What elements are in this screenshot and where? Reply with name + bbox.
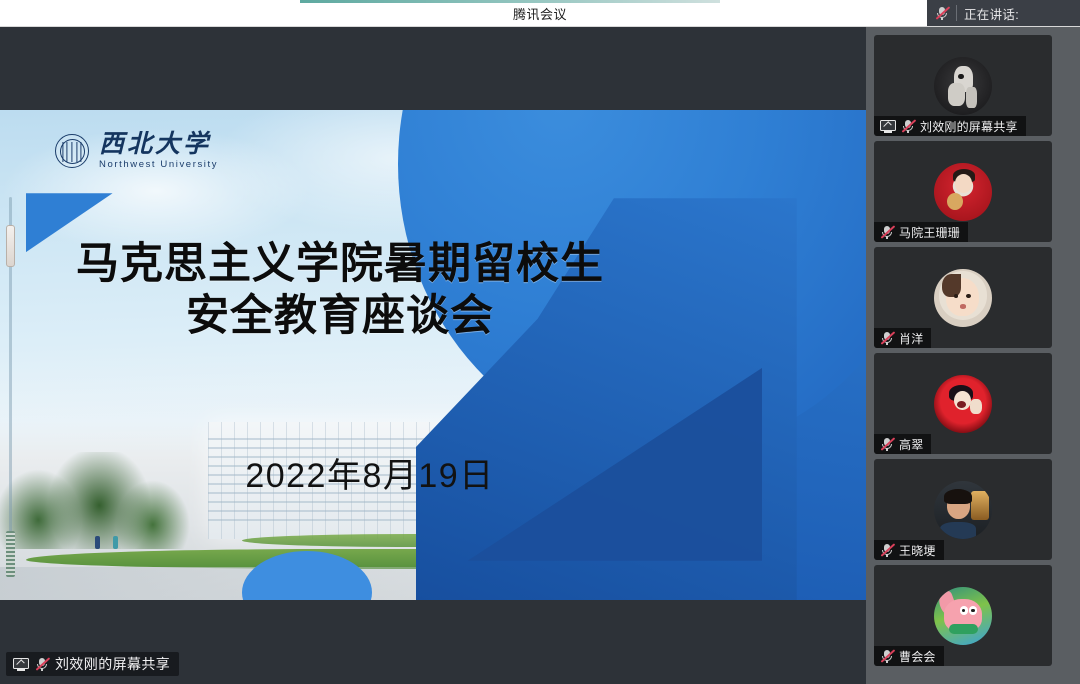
participant-label: 刘效刚的屏幕共享 (874, 116, 1026, 136)
slide-date: 2022年8月19日 (0, 448, 740, 497)
participant-tile[interactable]: 马院王珊珊 (874, 141, 1052, 242)
left-edge-scrollbar[interactable] (6, 197, 15, 577)
participant-tile[interactable]: 肖洋 (874, 247, 1052, 348)
participant-tile[interactable]: 高翠 (874, 353, 1052, 454)
participant-label: 王晓埂 (874, 540, 944, 560)
person-figure (113, 536, 118, 549)
mic-muted-icon (935, 6, 949, 21)
participant-sidebar[interactable]: 刘效刚的屏幕共享马院王珊珊肖洋高翠王晓埂曹会会 (866, 27, 1080, 684)
screen-share-icon (880, 120, 896, 133)
speaking-label: 正在讲话: (964, 4, 1019, 23)
university-seal-icon (55, 134, 89, 168)
screen-share-icon (13, 658, 29, 671)
badge-divider (956, 5, 957, 21)
slide-title: 马克思主义学院暑期留校生 安全教育座谈会 (0, 238, 680, 343)
slide-title-line1: 马克思主义学院暑期留校生 (76, 240, 604, 288)
participant-tile[interactable]: 刘效刚的屏幕共享 (874, 35, 1052, 136)
participant-name: 肖洋 (899, 330, 923, 347)
app-title: 腾讯会议 (513, 4, 567, 23)
presentation-slide: 西北大学 Northwest University 马克思主义学院暑期留校生 安… (0, 110, 866, 600)
scrollbar-ribs (6, 531, 15, 577)
titlebar-accent-strip (300, 0, 720, 3)
person-figure (95, 536, 100, 549)
university-name-en: Northwest University (99, 159, 218, 170)
participant-name: 曹会会 (899, 648, 936, 665)
mic-muted-icon (35, 657, 49, 672)
participant-label: 马院王珊珊 (874, 222, 968, 242)
mic-muted-icon (901, 119, 915, 134)
speaking-indicator-badge: 正在讲话: (927, 0, 1080, 26)
participant-tile[interactable]: 王晓埂 (874, 459, 1052, 560)
avatar (934, 587, 992, 645)
mic-muted-icon (880, 543, 894, 558)
mic-muted-icon (880, 331, 894, 346)
participant-name: 王晓埂 (899, 542, 936, 559)
avatar (934, 163, 992, 221)
avatar (934, 57, 992, 115)
university-name-cn: 西北大学 (99, 132, 218, 158)
avatar (934, 375, 992, 433)
mic-muted-icon (880, 437, 894, 452)
participant-label: 曹会会 (874, 646, 944, 666)
mic-muted-icon (880, 225, 894, 240)
participant-label: 肖洋 (874, 328, 931, 348)
slide-title-line2: 安全教育座谈会 (0, 290, 680, 342)
university-logo: 西北大学 Northwest University (55, 132, 218, 170)
participant-tile[interactable]: 曹会会 (874, 565, 1052, 666)
screen-share-status-label: 刘效刚的屏幕共享 (6, 652, 179, 676)
participant-name: 马院王珊珊 (899, 224, 960, 241)
mic-muted-icon (880, 649, 894, 664)
participant-name: 刘效刚的屏幕共享 (920, 118, 1018, 135)
window-titlebar: 腾讯会议 (0, 0, 1080, 27)
participant-name: 高翠 (899, 436, 923, 453)
scrollbar-thumb[interactable] (6, 225, 15, 267)
participant-label: 高翠 (874, 434, 931, 454)
avatar (934, 269, 992, 327)
avatar (934, 481, 992, 539)
shared-screen-region[interactable]: 西北大学 Northwest University 马克思主义学院暑期留校生 安… (0, 27, 866, 684)
screen-share-owner: 刘效刚的屏幕共享 (55, 654, 170, 674)
